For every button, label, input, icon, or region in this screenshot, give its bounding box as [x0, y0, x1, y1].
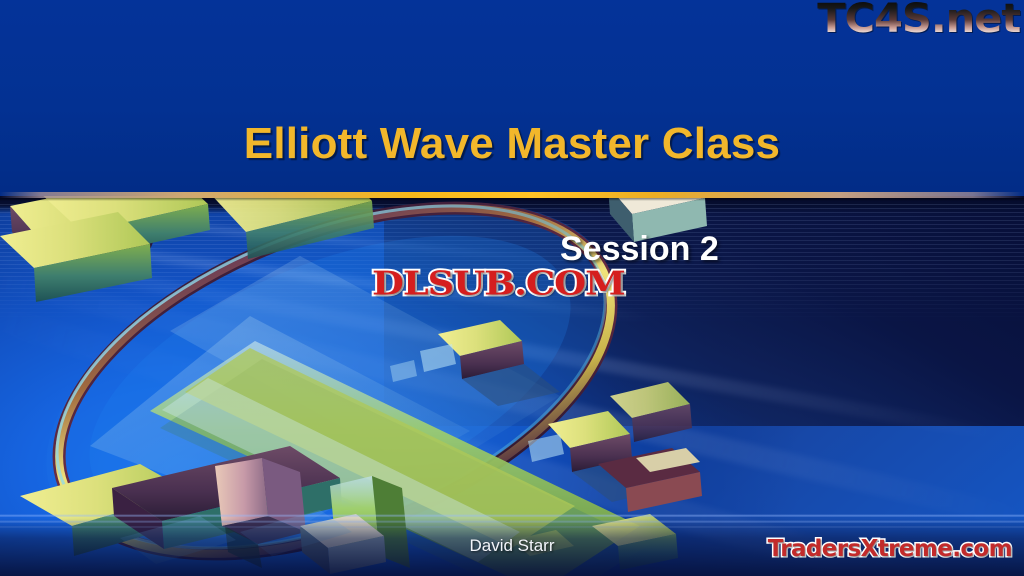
slide-graphic-panel — [0, 196, 1024, 576]
separator-shadow — [0, 198, 1024, 201]
dlsub-watermark: DLSUB.COM — [372, 264, 625, 303]
slide-header-panel: TC4S.net Elliott Wave Master Class — [0, 0, 1024, 196]
tradersxtreme-watermark: TradersXtreme.com — [768, 536, 1012, 562]
presentation-slide: TC4S.net Elliott Wave Master Class — [0, 0, 1024, 576]
elliptical-ring-3d-icon — [0, 196, 1024, 576]
slide-title: Elliott Wave Master Class — [0, 119, 1024, 169]
tc4s-watermark: TC4S.net — [817, 0, 1020, 40]
